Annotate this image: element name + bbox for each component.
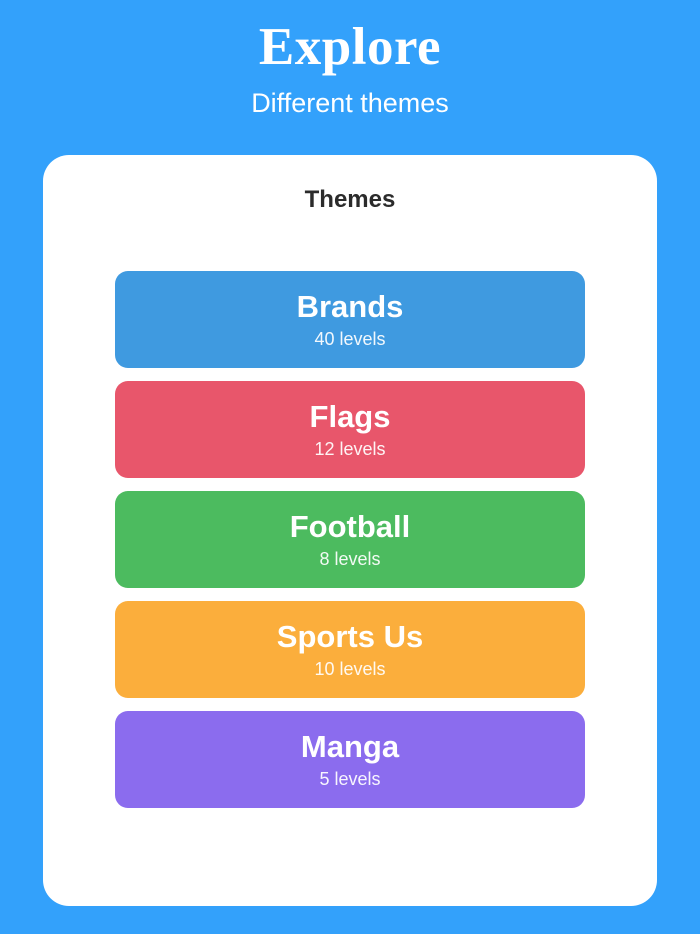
theme-list: Brands 40 levels Flags 12 levels Footbal… [115,271,585,808]
theme-button-flags[interactable]: Flags 12 levels [115,381,585,478]
theme-levels: 10 levels [314,658,385,680]
theme-name: Football [290,509,411,545]
themes-card: Themes Brands 40 levels Flags 12 levels … [43,155,657,906]
theme-button-manga[interactable]: Manga 5 levels [115,711,585,808]
theme-button-sports-us[interactable]: Sports Us 10 levels [115,601,585,698]
explore-screen: Explore Different themes Themes Brands 4… [0,0,700,934]
page-subtitle: Different themes [251,86,449,120]
theme-name: Sports Us [277,619,423,655]
theme-name: Manga [301,729,399,765]
page-header: Explore Different themes [0,0,700,155]
page-title: Explore [259,16,441,78]
theme-button-football[interactable]: Football 8 levels [115,491,585,588]
theme-levels: 8 levels [319,548,380,570]
theme-levels: 5 levels [319,768,380,790]
theme-name: Flags [310,399,391,435]
theme-levels: 12 levels [314,438,385,460]
theme-name: Brands [297,289,404,325]
themes-card-title: Themes [305,185,396,215]
theme-levels: 40 levels [314,328,385,350]
theme-button-brands[interactable]: Brands 40 levels [115,271,585,368]
